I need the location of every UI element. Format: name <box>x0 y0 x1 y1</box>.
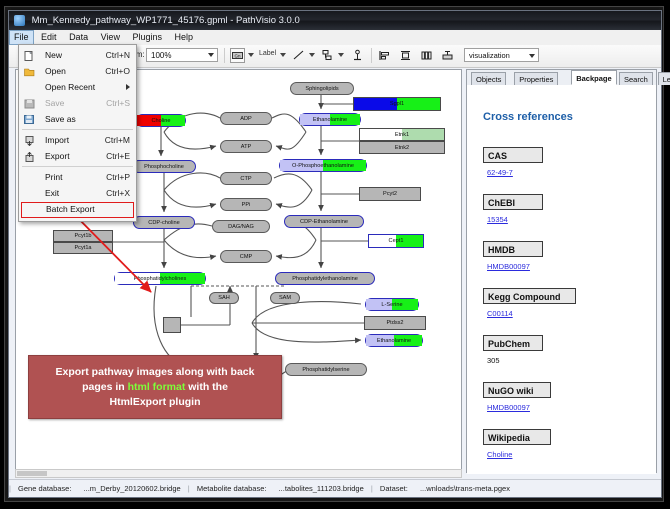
visualization-combo[interactable]: visualization <box>464 48 539 62</box>
xref-header-hmdb: HMDB <box>483 241 543 257</box>
annotation-callout: Export pathway images along with back pa… <box>28 355 282 419</box>
datanode-tool-icon[interactable]: Gn <box>230 48 245 63</box>
file-menu-item-label: Exit <box>45 188 59 198</box>
pathway-node-ethanolamine-bot[interactable]: Ethanolamine <box>365 334 423 347</box>
node-label: Phosphatidylethanolamine <box>292 276 358 282</box>
group-icon[interactable] <box>440 48 455 63</box>
pathway-node-etnk1[interactable]: Etnk1 <box>359 128 445 141</box>
file-menu-item-open-recent[interactable]: Open Recent <box>19 79 136 95</box>
xref-header-wikipedia: Wikipedia <box>483 429 551 445</box>
callout-highlight: html format <box>128 381 186 393</box>
node-label: Pcyt1b <box>74 233 91 239</box>
file-menu-item-accelerator: Ctrl+M <box>105 132 130 148</box>
pathway-node-pcyt1b[interactable]: Pcyt1b <box>53 230 113 242</box>
chevron-down-icon <box>529 54 535 58</box>
node-label: Phosphatidylserine <box>302 367 349 373</box>
tab-objects[interactable]: Objects <box>471 72 506 85</box>
metabolite-database-label: Metabolite database: <box>192 480 272 497</box>
node-label: ADP <box>240 116 252 122</box>
pathway-node-sphingolipids[interactable]: Sphingolipids <box>290 82 354 95</box>
tab-label: Legend <box>663 75 670 84</box>
pathway-node-phosphatidylethanolamine[interactable]: Phosphatidylethanolamine <box>275 272 375 285</box>
status-divider: | <box>9 480 11 497</box>
backpage-panel: Cross references CAS62-49-7ChEBI15354HMD… <box>467 85 656 474</box>
file-menu-item-label: Open <box>45 66 66 76</box>
pathway-node-phosphocholine[interactable]: Phosphocholine <box>132 160 196 173</box>
file-menu-item-label: New <box>45 50 62 60</box>
pathway-node-atp[interactable]: ATP <box>220 140 272 153</box>
canvas-hscrollbar[interactable] <box>15 469 462 478</box>
xref-db-name: Wikipedia <box>488 433 530 443</box>
dataset-label: Dataset: <box>375 480 413 497</box>
xref-value-chebi[interactable]: 15354 <box>487 215 508 224</box>
status-divider-3: | <box>371 480 373 497</box>
status-bar: | Gene database: ...m_Derby_20120602.bri… <box>9 479 661 497</box>
visualization-value: visualization <box>469 51 510 60</box>
node-label: L-Serine <box>381 302 402 308</box>
xref-db-name: Kegg Compound <box>488 292 561 302</box>
export-icon <box>24 151 35 161</box>
node-label: SAM <box>279 295 291 301</box>
file-menu-item-new[interactable]: NewCtrl+N <box>19 47 136 63</box>
pathway-node-pcyt2[interactable]: Pcyt2 <box>359 187 421 201</box>
file-menu-item-label: Export <box>45 151 70 161</box>
tab-backpage[interactable]: Backpage <box>571 70 616 85</box>
window-title: Mm_Kennedy_pathway_WP1771_45176.gpml - P… <box>32 15 300 26</box>
file-menu-item-accelerator: Ctrl+P <box>106 169 130 185</box>
node-label: CMP <box>240 254 252 260</box>
node-label: DAG/NAG <box>228 224 254 230</box>
pathway-node-cdp-choline[interactable]: CDP-choline <box>133 216 195 229</box>
menu-help[interactable]: Help <box>170 30 199 45</box>
zoom-combo[interactable]: 100% <box>146 48 218 62</box>
file-menu-item-label: Open Recent <box>45 82 95 92</box>
file-menu-item-print[interactable]: PrintCtrl+P <box>19 169 136 185</box>
line-tool-icon[interactable] <box>291 48 306 63</box>
file-menu-item-export[interactable]: ExportCtrl+E <box>19 148 136 164</box>
pathway-node-adp[interactable]: ADP <box>220 112 272 125</box>
label-tool-label[interactable]: Label <box>259 50 276 57</box>
node-label: CTP <box>240 176 251 182</box>
node-label: Ethanolamine <box>377 338 411 344</box>
pathvisio-window: Mm_Kennedy_pathway_WP1771_45176.gpml - P… <box>8 10 662 498</box>
node-label: SAH <box>218 295 230 301</box>
file-menu-item-open[interactable]: OpenCtrl+O <box>19 63 136 79</box>
gene-database-label: Gene database: <box>13 480 76 497</box>
file-menu-item-label: Save <box>45 98 64 108</box>
menu-file[interactable]: File <box>9 30 34 45</box>
pathway-node-choline-top[interactable]: Choline <box>136 114 186 127</box>
file-menu-item-import[interactable]: ImportCtrl+M <box>19 132 136 148</box>
distribute-icon[interactable] <box>419 48 434 63</box>
node-label: CDP-Ethanolamine <box>300 219 348 225</box>
import-icon <box>24 135 35 145</box>
label-dropdown-icon[interactable] <box>280 53 286 57</box>
node-label: Phosphatidylcholines <box>134 276 187 282</box>
svg-text:Gn: Gn <box>234 54 241 59</box>
xref-db-name: PubChem <box>488 339 530 349</box>
xref-value-hmdb[interactable]: HMDB00097 <box>487 262 530 271</box>
node-label: Pcyt2 <box>383 191 397 197</box>
node-label: Sgpl1 <box>390 101 404 107</box>
chevron-down-icon <box>208 53 214 57</box>
pathway-node-o-phosphoethanolamine[interactable]: O-Phosphoethanolamine <box>279 159 367 172</box>
file-menu-item-exit[interactable]: ExitCtrl+X <box>19 185 136 201</box>
xref-db-name: CAS <box>488 151 507 161</box>
pathway-node-phosphatidylcholines[interactable]: Phosphatidylcholines <box>114 272 206 285</box>
menu-view[interactable]: View <box>96 30 125 45</box>
pathway-node-pemt[interactable] <box>163 317 181 333</box>
file-menu-item-accelerator: Ctrl+N <box>106 47 130 63</box>
file-menu-item-label: Batch Export <box>46 204 95 214</box>
new-file-icon <box>24 50 35 60</box>
toolbar-separator <box>224 48 225 63</box>
tab-search[interactable]: Search <box>619 72 653 85</box>
hscroll-thumb[interactable] <box>17 471 47 476</box>
file-menu-item-batch-export[interactable]: Batch Export <box>21 202 134 218</box>
metabolite-database-value: ...tabolites_111203.bridge <box>274 480 369 497</box>
title-bar: Mm_Kennedy_pathway_WP1771_45176.gpml - P… <box>9 11 661 30</box>
pathway-node-sah[interactable]: SAH <box>209 292 239 304</box>
pathway-node-ptdss2[interactable]: Ptdss2 <box>364 316 426 330</box>
xref-value-kegg-compound[interactable]: C00114 <box>487 309 513 318</box>
file-menu-item-accelerator: Ctrl+E <box>106 148 130 164</box>
tab-label: Objects <box>476 75 501 84</box>
tab-legend[interactable]: Legend <box>658 72 670 85</box>
pathway-node-ethanolamine-top[interactable]: Ethanolamine <box>299 113 361 126</box>
callout-line3: HtmlExport plugin <box>110 396 201 408</box>
node-label: Cept1 <box>389 238 404 244</box>
tab-properties[interactable]: Properties <box>514 72 558 85</box>
pathway-node-ppi[interactable]: PPi <box>220 198 272 211</box>
xref-header-nugo-wiki: NuGO wiki <box>483 382 551 398</box>
xref-value-wikipedia[interactable]: Choline <box>487 450 512 459</box>
pathway-node-sgpl1[interactable]: Sgpl1 <box>353 97 441 111</box>
interaction-dropdown-icon[interactable] <box>338 53 344 57</box>
menu-separator <box>22 166 133 167</box>
xref-db-name: HMDB <box>488 245 515 255</box>
toolbar-separator-2 <box>371 48 372 63</box>
node-label: Ethanolamine <box>313 117 347 123</box>
pathway-node-dag-nag[interactable]: DAG/NAG <box>212 220 270 233</box>
file-menu-item-label: Save as <box>45 114 76 124</box>
align-center-icon[interactable] <box>398 48 413 63</box>
menu-data[interactable]: Data <box>64 30 93 45</box>
file-menu-item-save-as[interactable]: Save as <box>19 111 136 127</box>
callout-line2-b: with the <box>185 381 228 393</box>
pathway-node-cmp[interactable]: CMP <box>220 250 272 263</box>
pathway-node-pcyt1a[interactable]: Pcyt1a <box>53 242 113 254</box>
node-label: Sphingolipids <box>305 86 338 92</box>
pathway-node-l-serine[interactable]: L-Serine <box>365 298 419 311</box>
xref-value-pubchem: 305 <box>487 356 500 365</box>
tab-label: Properties <box>519 75 553 84</box>
node-label: Etnk1 <box>395 132 409 138</box>
xref-value-cas[interactable]: 62-49-7 <box>487 168 513 177</box>
status-divider-2: | <box>188 480 190 497</box>
xref-value-nugo-wiki[interactable]: HMDB00097 <box>487 403 530 412</box>
callout-line1: Export pathway images along with back <box>56 366 255 378</box>
side-dock: ObjectsPropertiesBackpageSearchLegend Cr… <box>466 69 657 473</box>
submenu-arrow-icon <box>126 84 130 90</box>
line-dropdown-icon[interactable] <box>309 53 315 57</box>
open-folder-icon <box>24 66 35 76</box>
pathway-node-etnk2[interactable]: Etnk2 <box>359 141 445 154</box>
xref-header-chebi: ChEBI <box>483 194 543 210</box>
dataset-value: ...wnloads\trans-meta.pgex <box>415 480 515 497</box>
file-menu-popup[interactable]: NewCtrl+NOpenCtrl+OOpen RecentSaveCtrl+S… <box>18 44 137 222</box>
tab-label: Backpage <box>576 74 611 83</box>
save-disk-icon <box>24 98 35 108</box>
callout-line2-a: pages in <box>82 381 128 393</box>
pathway-node-cdp-ethanolamine[interactable]: CDP-Ethanolamine <box>284 215 364 228</box>
dock-tabstrip[interactable]: ObjectsPropertiesBackpageSearchLegend <box>467 70 656 86</box>
pathway-node-phosphatidylserine[interactable]: Phosphatidylserine <box>285 363 367 376</box>
xref-header-kegg-compound: Kegg Compound <box>483 288 576 304</box>
menu-edit[interactable]: Edit <box>36 30 62 45</box>
node-label: Pcyt1a <box>74 245 91 251</box>
interaction-tool-icon[interactable] <box>320 48 335 63</box>
pathvisio-icon <box>14 15 25 26</box>
node-label: PPi <box>242 202 251 208</box>
node-label: Phosphocholine <box>144 164 184 170</box>
gene-database-value: ...m_Derby_20120602.bridge <box>79 480 186 497</box>
tab-label: Search <box>624 75 648 84</box>
node-label: O-Phosphoethanolamine <box>292 163 354 169</box>
datanode-dropdown-icon[interactable] <box>248 53 254 57</box>
xref-header-pubchem: PubChem <box>483 335 543 351</box>
pathway-node-sam[interactable]: SAM <box>270 292 300 304</box>
node-label: ATP <box>241 144 251 150</box>
file-menu-item-accelerator: Ctrl+X <box>106 185 130 201</box>
zoom-value: 100% <box>151 51 171 60</box>
screenshot-frame: Mm_Kennedy_pathway_WP1771_45176.gpml - P… <box>0 0 670 509</box>
pathway-node-ctp[interactable]: CTP <box>220 172 272 185</box>
file-menu-item-label: Print <box>45 172 62 182</box>
file-menu-item-label: Import <box>45 135 69 145</box>
cross-references-title: Cross references <box>483 111 573 123</box>
xref-db-name: ChEBI <box>488 198 515 208</box>
node-label: Ptdss2 <box>386 320 403 326</box>
xref-db-name: NuGO wiki <box>488 386 534 396</box>
save-as-icon <box>24 114 35 124</box>
node-label: CDP-choline <box>148 220 179 226</box>
file-menu-item-save: SaveCtrl+S <box>19 95 136 111</box>
file-menu-item-accelerator: Ctrl+S <box>106 95 130 111</box>
pathway-node-cept1[interactable]: Cept1 <box>368 234 424 248</box>
align-left-icon[interactable] <box>377 48 392 63</box>
file-menu-item-accelerator: Ctrl+O <box>105 63 130 79</box>
menu-plugins[interactable]: Plugins <box>127 30 167 45</box>
anchor-tool-icon[interactable] <box>350 48 365 63</box>
menu-separator <box>22 129 133 130</box>
node-label: Etnk2 <box>395 145 409 151</box>
xref-header-cas: CAS <box>483 147 543 163</box>
node-label: Choline <box>152 118 171 124</box>
